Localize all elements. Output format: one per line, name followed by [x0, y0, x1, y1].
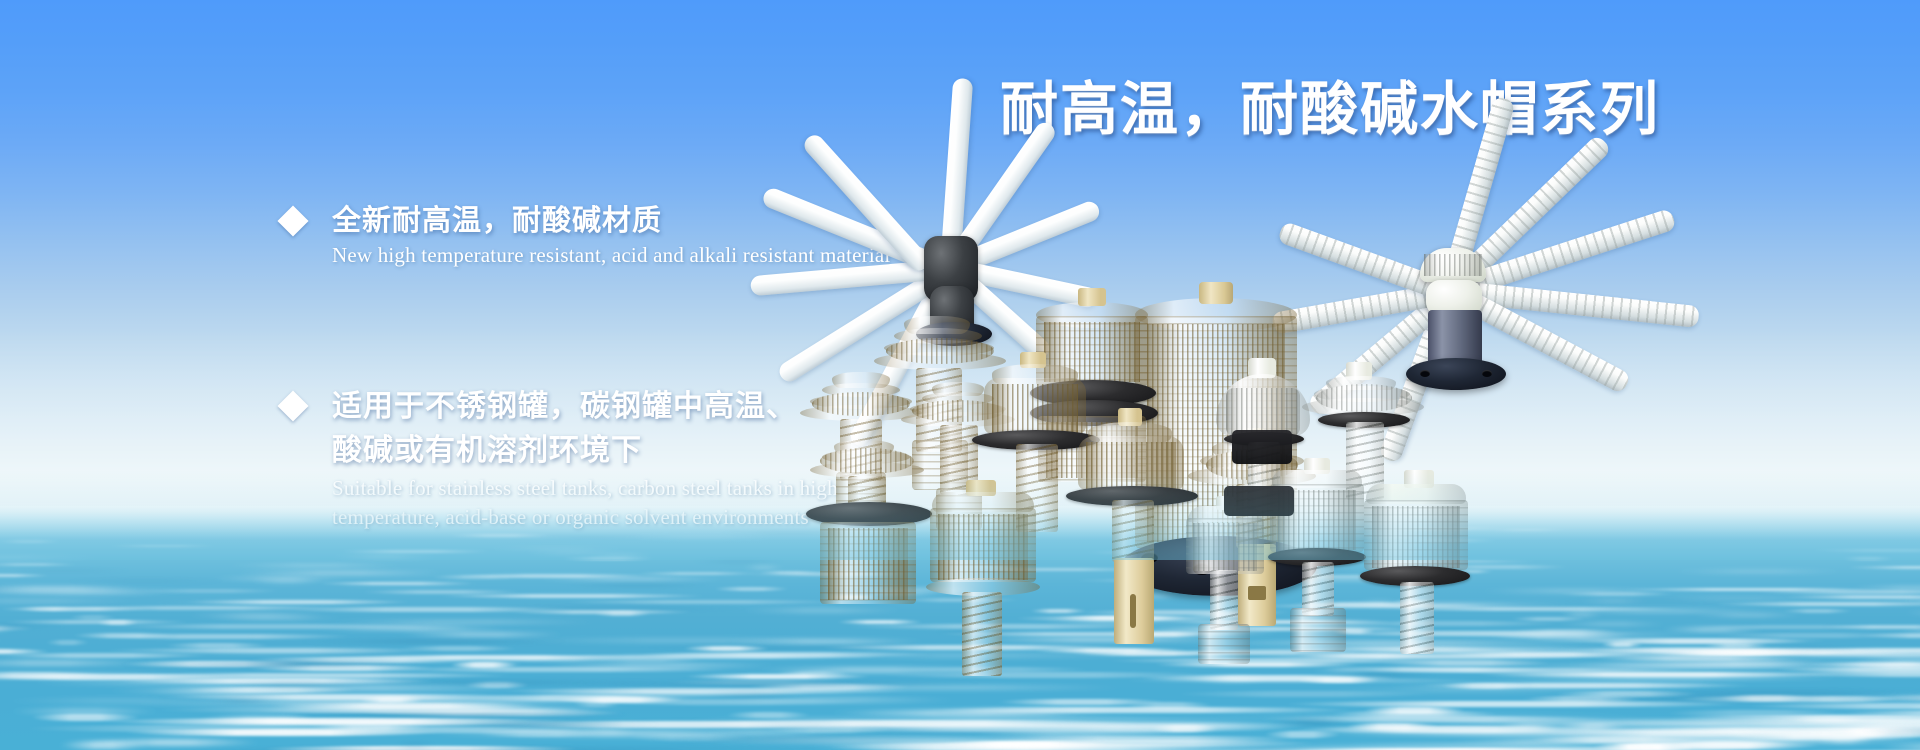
white-ribbed-barrel-nozzle-b: [1356, 470, 1486, 680]
beige-ribbed-barrel-nozzle: [920, 480, 1060, 690]
product-banner: 耐高温，耐酸碱水帽系列 全新耐高温，耐酸碱材质 New high tempera…: [0, 0, 1920, 750]
product-group-image: [880, 140, 1920, 660]
diamond-bullet-icon: [277, 390, 308, 421]
white-ribbed-barrel-nozzle-c: [1176, 496, 1286, 686]
dark-gasket-accent-b: [1224, 486, 1294, 516]
diamond-bullet-icon: [277, 205, 308, 236]
dark-gasket-accent-a: [1232, 430, 1292, 464]
